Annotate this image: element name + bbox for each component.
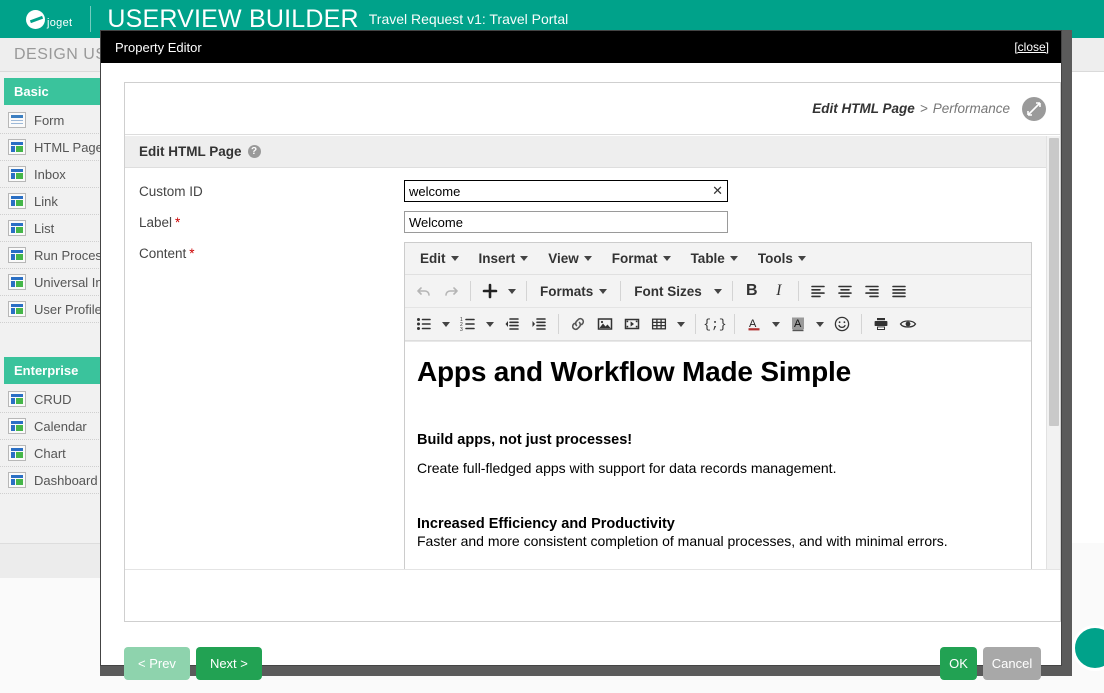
property-editor-dialog: Property Editor [close] Edit HTML Page >… [100, 30, 1062, 666]
field-label: Custom ID [139, 180, 404, 199]
prev-button[interactable]: < Prev [124, 647, 190, 680]
field-row-content: Content* Edit Insert View Format [125, 242, 1060, 569]
section-header: Edit HTML Page ? [125, 136, 1060, 168]
dialog-titlebar: Property Editor [close] [101, 31, 1061, 63]
menu-format[interactable]: Format [603, 248, 680, 269]
menu-table[interactable]: Table [682, 248, 747, 269]
toolbar-divider [558, 314, 559, 334]
code-icon[interactable]: {;} [702, 312, 728, 336]
palette-item-label: HTML Page [34, 140, 103, 155]
joget-logo-icon [26, 10, 45, 29]
palette-item-label: User Profile [34, 302, 102, 317]
cancel-button[interactable]: Cancel [983, 647, 1041, 680]
page-icon [8, 220, 26, 236]
undo-icon[interactable] [411, 279, 437, 303]
font-sizes-dropdown[interactable]: Font Sizes [627, 281, 709, 302]
field-label: Content* [139, 242, 404, 261]
numbered-list-icon[interactable]: 123 [455, 312, 481, 336]
page-icon [8, 301, 26, 317]
section-title: Edit HTML Page [139, 144, 242, 159]
font-sizes-label: Font Sizes [634, 284, 702, 299]
required-marker: * [175, 215, 180, 230]
menu-label: Table [691, 251, 725, 266]
chat-widget-button[interactable] [1072, 625, 1104, 671]
page-icon [8, 166, 26, 182]
page-icon [8, 418, 26, 434]
field-control: ✕ [404, 180, 1060, 202]
chevron-down-icon [584, 256, 592, 261]
scrollbar-thumb[interactable] [1049, 138, 1059, 426]
palette-item-label: CRUD [34, 392, 72, 407]
chevron-down-icon [798, 256, 806, 261]
palette-item-label: Inbox [34, 167, 66, 182]
joget-logo-text: joget [47, 17, 72, 29]
field-label: Label* [139, 211, 404, 230]
help-icon[interactable]: ? [248, 145, 261, 158]
palette-item-label: Calendar [34, 419, 87, 434]
property-editor-footer [125, 569, 1060, 621]
next-button[interactable]: Next > [196, 647, 262, 680]
menu-label: Tools [758, 251, 793, 266]
close-link[interactable]: [close] [1014, 40, 1049, 54]
menu-tools[interactable]: Tools [749, 248, 815, 269]
redo-icon[interactable] [438, 279, 464, 303]
toolbar-divider [470, 281, 471, 301]
text-color-icon[interactable]: A [741, 312, 767, 336]
outdent-icon[interactable] [499, 312, 525, 336]
palette-item-label: List [34, 221, 54, 236]
bullet-list-chevron-down-icon[interactable] [438, 312, 454, 336]
topbar-divider [90, 6, 91, 32]
field-row-custom-id: Custom ID ✕ [125, 180, 1060, 211]
property-editor-frame: Edit HTML Page > Performance Edit HTML P… [124, 82, 1061, 622]
page-icon [8, 274, 26, 290]
editor-sub1-heading: Build apps, not just processes! [417, 432, 1019, 448]
align-center-icon[interactable] [832, 279, 858, 303]
toolbar-divider [732, 281, 733, 301]
field-control: Edit Insert View Format Table Tools [404, 242, 1060, 569]
property-form: Custom ID ✕ Label* [125, 168, 1060, 569]
required-marker: * [189, 246, 194, 261]
print-icon[interactable] [868, 312, 894, 336]
rich-text-editor: Edit Insert View Format Table Tools [404, 242, 1032, 569]
toolbar-divider [620, 281, 621, 301]
joget-logo[interactable]: joget [26, 10, 72, 29]
chevron-down-icon [730, 256, 738, 261]
chevron-down-icon [663, 256, 671, 261]
ok-button[interactable]: OK [940, 647, 977, 680]
align-left-icon[interactable] [805, 279, 831, 303]
label-input[interactable] [404, 211, 728, 233]
editor-content-area[interactable]: Apps and Workflow Made Simple Build apps… [405, 341, 1031, 569]
editor-heading: Apps and Workflow Made Simple [417, 356, 1019, 388]
link-icon[interactable] [565, 312, 591, 336]
menu-label: View [548, 251, 579, 266]
palette-item-label: Run Process [34, 248, 108, 263]
preview-eye-icon[interactable] [895, 312, 921, 336]
table-icon[interactable] [646, 312, 672, 336]
dialog-body: Edit HTML Page > Performance Edit HTML P… [101, 63, 1061, 665]
toolbar-divider [798, 281, 799, 301]
toolbar-divider [734, 314, 735, 334]
breadcrumb: Edit HTML Page > Performance [125, 83, 1060, 135]
page-icon [8, 445, 26, 461]
field-control [404, 211, 1060, 233]
clear-icon[interactable]: ✕ [712, 182, 723, 200]
field-label-text: Content [139, 246, 186, 261]
align-right-icon[interactable] [859, 279, 885, 303]
svg-text:A: A [794, 318, 802, 330]
page-icon [8, 139, 26, 155]
formats-label: Formats [540, 284, 593, 299]
bullet-list-icon[interactable] [411, 312, 437, 336]
menu-view[interactable]: View [539, 248, 601, 269]
app-root: joget USERVIEW BUILDER Travel Request v1… [0, 0, 1104, 693]
breadcrumb-separator: > [920, 101, 928, 116]
page-icon [8, 472, 26, 488]
menu-edit[interactable]: Edit [411, 248, 468, 269]
editor-menubar: Edit Insert View Format Table Tools [405, 243, 1031, 275]
menu-label: Edit [420, 251, 446, 266]
page-icon [8, 247, 26, 263]
page-icon [8, 193, 26, 209]
editor-sub2-heading: Increased Efficiency and Productivity [417, 516, 1019, 532]
bold-button[interactable]: B [739, 279, 765, 303]
form-icon [8, 112, 26, 128]
page-icon [8, 391, 26, 407]
menu-label: Format [612, 251, 658, 266]
editor-sub1-text: Create full-fledged apps with support fo… [417, 460, 1019, 476]
breadcrumb-parent[interactable]: Edit HTML Page [812, 101, 915, 116]
menu-label: Insert [479, 251, 516, 266]
table-chevron-down-icon[interactable] [673, 312, 689, 336]
field-label-text: Label [139, 215, 172, 230]
app-subtitle: Travel Request v1: Travel Portal [369, 11, 568, 27]
custom-id-input[interactable] [404, 180, 728, 202]
palette-item-label: Link [34, 194, 58, 209]
text-color-chevron-down-icon[interactable] [768, 312, 784, 336]
indent-icon[interactable] [526, 312, 552, 336]
formats-dropdown[interactable]: Formats [533, 281, 614, 302]
dialog-button-row: < Prev Next > OK Cancel [124, 641, 1041, 685]
highlight-color-icon[interactable]: A [785, 312, 811, 336]
font-sizes-chevron-down-icon[interactable] [710, 279, 726, 303]
toolbar-divider [526, 281, 527, 301]
numbered-list-chevron-down-icon[interactable] [482, 312, 498, 336]
palette-item-label: Chart [34, 446, 66, 461]
align-justify-icon[interactable] [886, 279, 912, 303]
chevron-down-icon [451, 256, 459, 261]
menu-insert[interactable]: Insert [470, 248, 538, 269]
emoticon-icon[interactable] [829, 312, 855, 336]
media-icon[interactable] [619, 312, 645, 336]
toolbar-divider [861, 314, 862, 334]
breadcrumb-current: Performance [933, 101, 1010, 116]
property-editor-scrollbar[interactable] [1046, 136, 1060, 569]
property-scroll-area: Edit HTML Page ? Custom ID ✕ [125, 136, 1060, 569]
toolbar-divider [695, 314, 696, 334]
italic-button[interactable]: I [766, 279, 792, 303]
plus-icon[interactable] [477, 279, 503, 303]
chevron-down-icon [599, 289, 607, 294]
highlight-color-chevron-down-icon[interactable] [812, 312, 828, 336]
editor-toolbar-row-1: Formats Font Sizes B I [405, 275, 1031, 308]
editor-sub2-text: Faster and more consistent completion of… [417, 533, 1019, 549]
image-icon[interactable] [592, 312, 618, 336]
field-row-label: Label* [125, 211, 1060, 242]
palette-item-label: Dashboard [34, 473, 98, 488]
palette-item-label: Form [34, 113, 64, 128]
dialog-title: Property Editor [115, 40, 1014, 55]
editor-toolbar-row-2: 123 [405, 308, 1031, 341]
chevron-down-icon [520, 256, 528, 261]
insert-menu-chevron-down-icon[interactable] [504, 279, 520, 303]
expand-icon[interactable] [1022, 97, 1046, 121]
svg-text:3: 3 [460, 327, 463, 332]
